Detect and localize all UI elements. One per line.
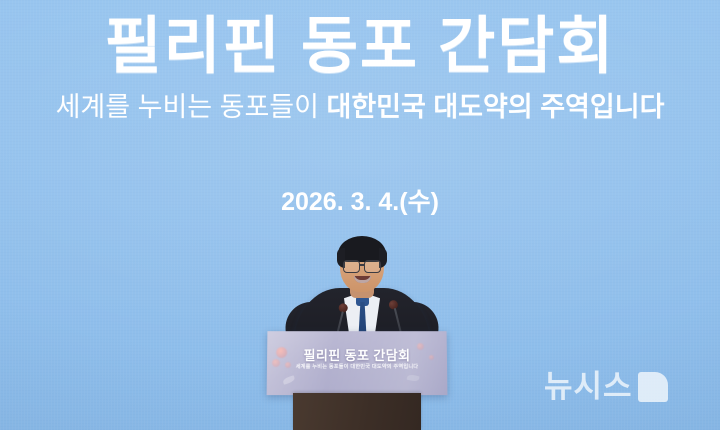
leaf-decoration-icon: [407, 374, 420, 382]
glasses-lens-right: [364, 260, 381, 273]
event-sub-title-light: 세계를 누비는 동포들이: [56, 92, 327, 122]
podium-base: [293, 393, 421, 430]
event-date: 2026. 3. 4.(수): [0, 182, 720, 218]
headline-block: 필리핀 동포 간담회 세계를 누비는 동포들이 대한민국 대도약의 주역입니다: [0, 8, 720, 124]
newsis-watermark: 뉴시스: [544, 368, 704, 406]
event-sub-title: 세계를 누비는 동포들이 대한민국 대도약의 주역입니다: [0, 90, 720, 124]
press-photo-screenshot: 필리핀 동포 간담회 세계를 누비는 동포들이 대한민국 대도약의 주역입니다 …: [0, 0, 720, 430]
event-main-title: 필리핀 동포 간담회: [0, 8, 720, 86]
podium-sign-subtitle: 세계를 누비는 동포들이 대한민국 대도약의 주역입니다: [267, 363, 447, 370]
podium-sign-title: 필리핀 동포 간담회: [267, 345, 447, 364]
leaf-decoration-icon: [282, 375, 295, 384]
watermark-logo-icon: [638, 372, 668, 402]
glasses-lens-left: [343, 260, 360, 273]
speaker-glasses-icon: [342, 260, 382, 271]
podium-front-panel: 필리핀 동포 간담회 세계를 누비는 동포들이 대한민국 대도약의 주역입니다: [267, 331, 448, 395]
watermark-text: 뉴시스: [544, 368, 633, 406]
event-sub-title-bold: 대한민국 대도약의 주역입니다: [326, 92, 664, 122]
